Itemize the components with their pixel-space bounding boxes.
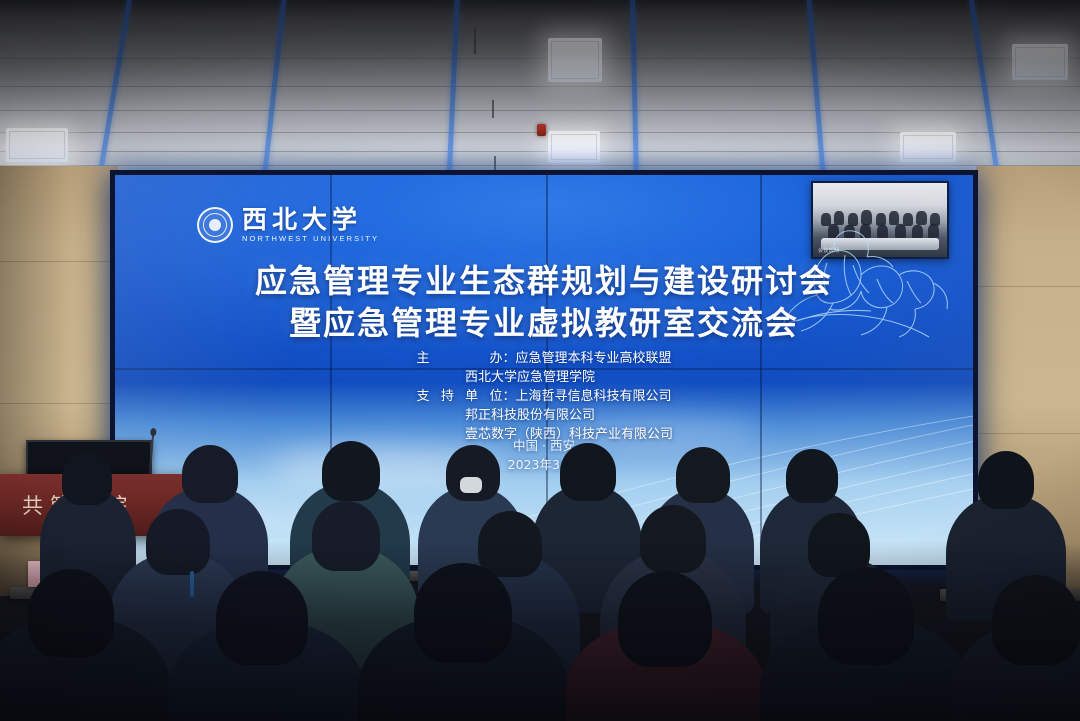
audience <box>0 421 1080 721</box>
university-name-cn: 西北大学 <box>242 207 379 232</box>
support-separator: ： <box>502 388 515 407</box>
attendee-head <box>182 445 238 503</box>
slide-title-line-1: 应急管理专业生态群规划与建设研讨会 <box>115 261 973 303</box>
support-label: 支持单位 <box>416 388 502 407</box>
attendee-head <box>62 453 112 505</box>
conference-photo-scene: 西北大学 NORTHWEST UNIVERSITY <box>0 0 1080 721</box>
host-value-2: 西北大学应急管理学院 <box>465 369 709 388</box>
slide-title-line-2: 暨应急管理专业虚拟教研室交流会 <box>115 303 973 345</box>
host-separator: ： <box>502 350 515 369</box>
university-logo: 西北大学 NORTHWEST UNIVERSITY <box>197 207 379 243</box>
university-name-en: NORTHWEST UNIVERSITY <box>242 235 379 243</box>
host-label: 主办 <box>416 350 502 369</box>
university-seal-icon <box>197 207 233 243</box>
host-value-1: 应急管理本科专业高校联盟 <box>516 350 672 369</box>
support-value-1: 上海哲寻信息科技有限公司 <box>516 388 672 407</box>
attendee-head <box>786 449 838 503</box>
ceiling <box>0 0 1080 172</box>
attendee-head <box>560 443 616 501</box>
face-mask <box>460 477 482 493</box>
attendee-head <box>676 447 730 503</box>
slide-title: 应急管理专业生态群规划与建设研讨会 暨应急管理专业虚拟教研室交流会 <box>115 261 973 344</box>
attendee-head <box>978 451 1034 509</box>
attendee-head <box>322 441 380 501</box>
